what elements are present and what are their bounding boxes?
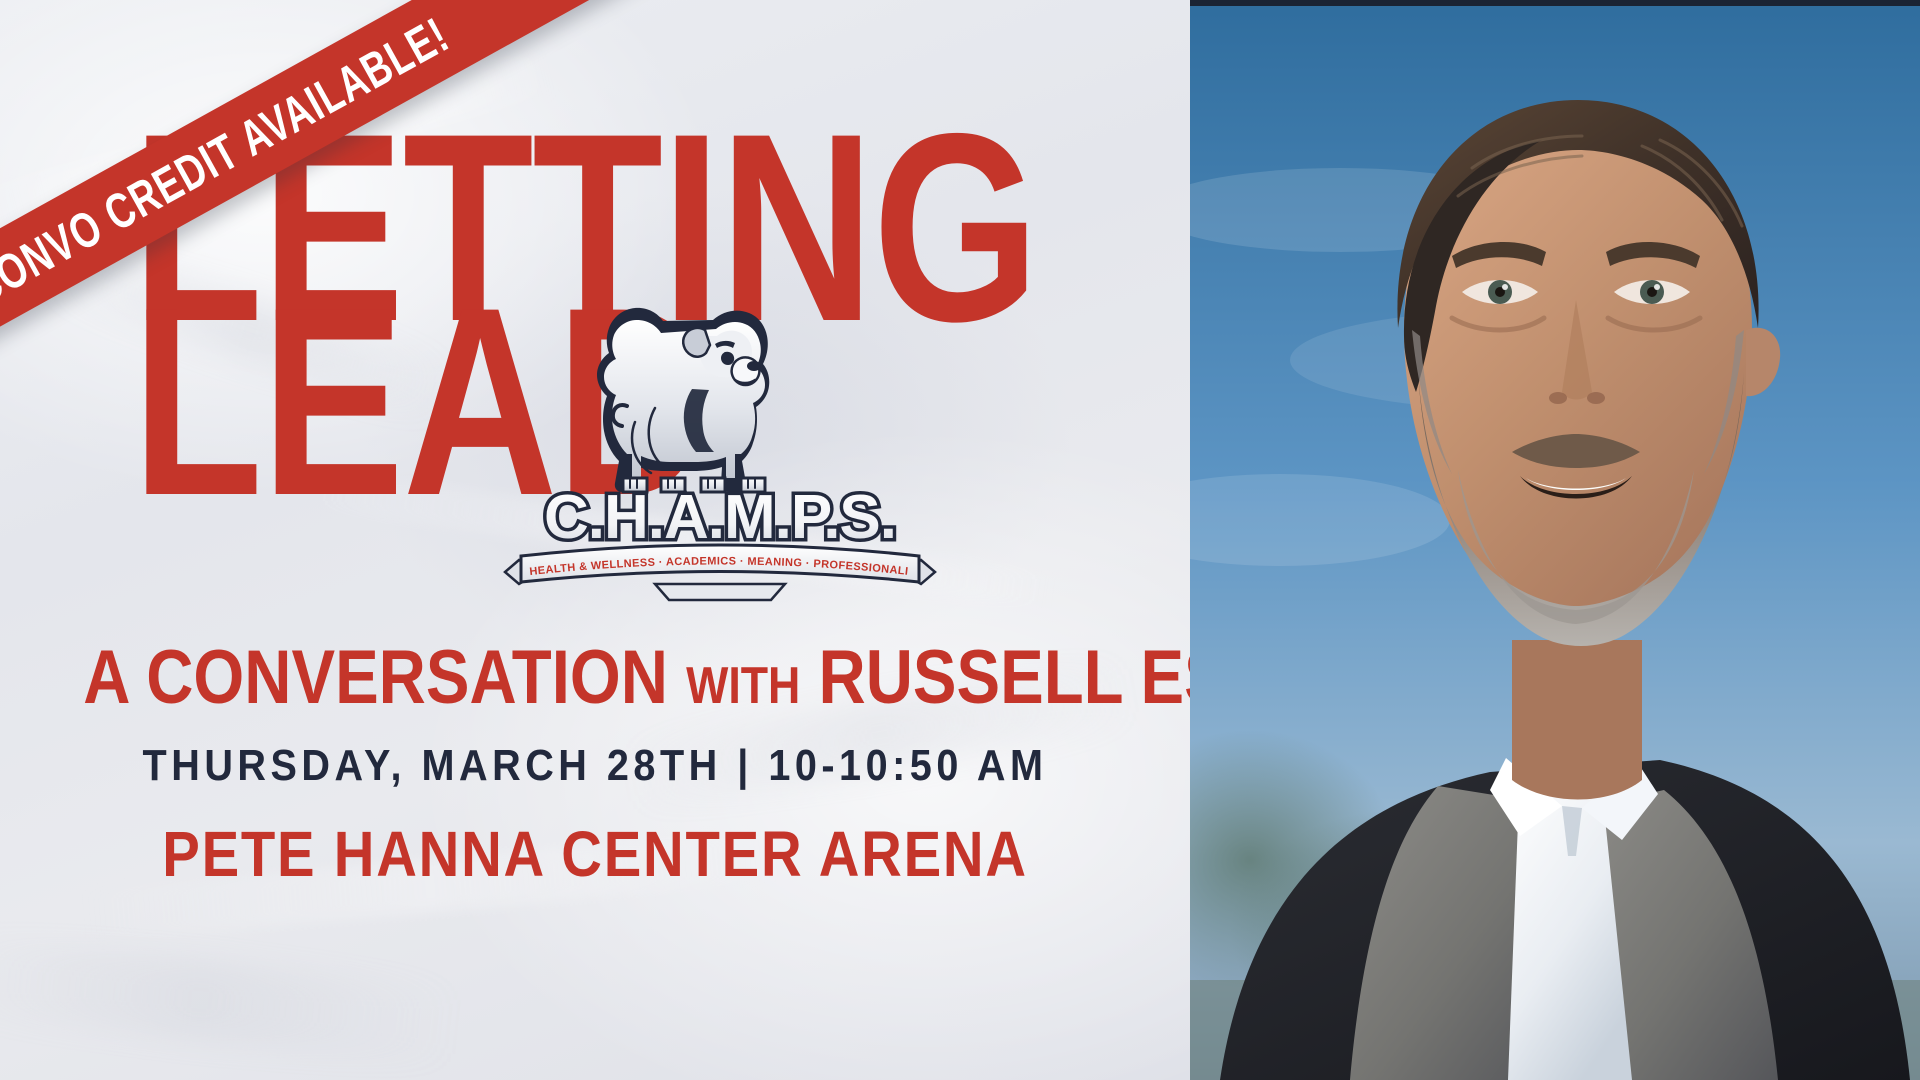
speaker-photo [1190,0,1920,1080]
champs-wordmark-text: C.H.A.M.P.S. [544,483,896,552]
texture-shade [0,933,463,1067]
bulldog-mascot [597,308,769,492]
champs-wordmark: C.H.A.M.P.S. [544,483,896,552]
subtitle-part-2: RUSSELL ESTES [819,635,1190,720]
event-details: A CONVERSATION WITH RUSSELL ESTES THURSD… [0,640,1190,886]
event-venue: PETE HANNA CENTER ARENA [71,822,1118,886]
event-datetime: THURSDAY, MARCH 28TH | 10-10:50 AM [60,744,1131,788]
photo-neck [1512,640,1642,800]
subtitle-connector: WITH [686,657,800,715]
speaker-portrait-illustration [1190,0,1920,1080]
subtitle-part-1: A CONVERSATION [83,635,668,720]
event-subtitle: A CONVERSATION WITH RUSSELL ESTES [83,640,1106,716]
event-poster: CONVO CREDIT AVAILABLE! LETTING GOD LEAD [0,0,1920,1080]
photo-top-edge [1190,0,1920,6]
poster-left-panel: CONVO CREDIT AVAILABLE! LETTING GOD LEAD [0,0,1190,1080]
champs-logo: C.H.A.M.P.S. COMMUNITY · HEALTH & WELLNE… [505,300,935,630]
